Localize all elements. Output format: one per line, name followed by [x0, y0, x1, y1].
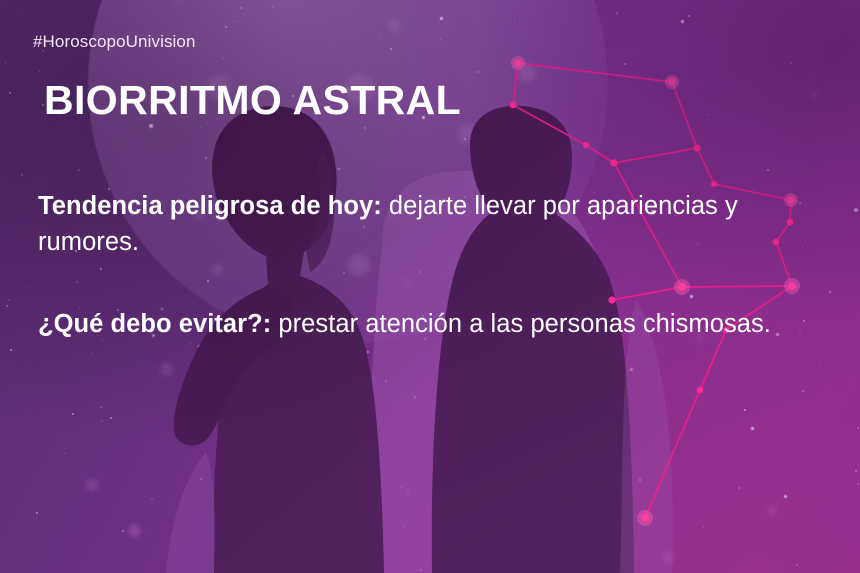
- avoid-label: ¿Qué debo evitar?:: [38, 310, 271, 338]
- hashtag-label: #HoroscopoUnivision: [33, 32, 196, 52]
- avoid-text: prestar atención a las personas chismosa…: [271, 310, 771, 338]
- page-title: BIORRITMO ASTRAL: [44, 80, 461, 121]
- text-content: #HoroscopoUnivision BIORRITMO ASTRAL Ten…: [0, 0, 860, 573]
- tendency-label: Tendencia peligrosa de hoy:: [38, 192, 382, 220]
- avoid-paragraph: ¿Qué debo evitar?: prestar atención a la…: [38, 306, 828, 342]
- horoscope-card: #HoroscopoUnivision BIORRITMO ASTRAL Ten…: [0, 0, 860, 573]
- tendency-paragraph: Tendencia peligrosa de hoy: dejarte llev…: [38, 188, 828, 260]
